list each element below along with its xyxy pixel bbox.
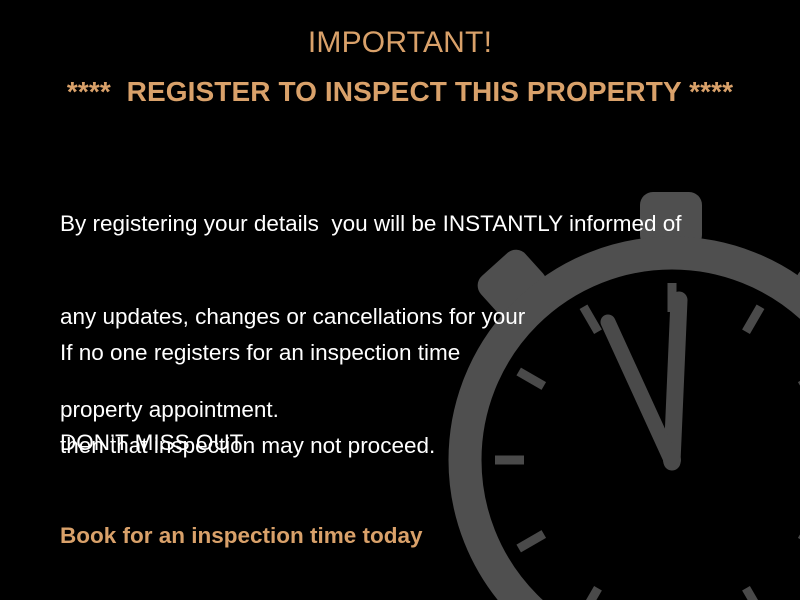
cta-book-inspection: Book for an inspection time today xyxy=(60,520,423,551)
paragraph-1-line-1: By registering your details you will be … xyxy=(60,208,682,239)
promo-slide: IMPORTANT! **** REGISTER TO INSPECT THIS… xyxy=(0,0,800,600)
text-layer: IMPORTANT! **** REGISTER TO INSPECT THIS… xyxy=(0,0,800,600)
page-title-register: **** REGISTER TO INSPECT THIS PROPERTY *… xyxy=(0,76,800,108)
cta-dont-miss-out: DON’T MISS OUT xyxy=(60,427,423,458)
paragraph-2-line-1: If no one registers for an inspection ti… xyxy=(60,337,460,368)
paragraph-call-to-action: DON’T MISS OUT Book for an inspection ti… xyxy=(60,365,423,600)
page-title-important: IMPORTANT! xyxy=(0,26,800,61)
